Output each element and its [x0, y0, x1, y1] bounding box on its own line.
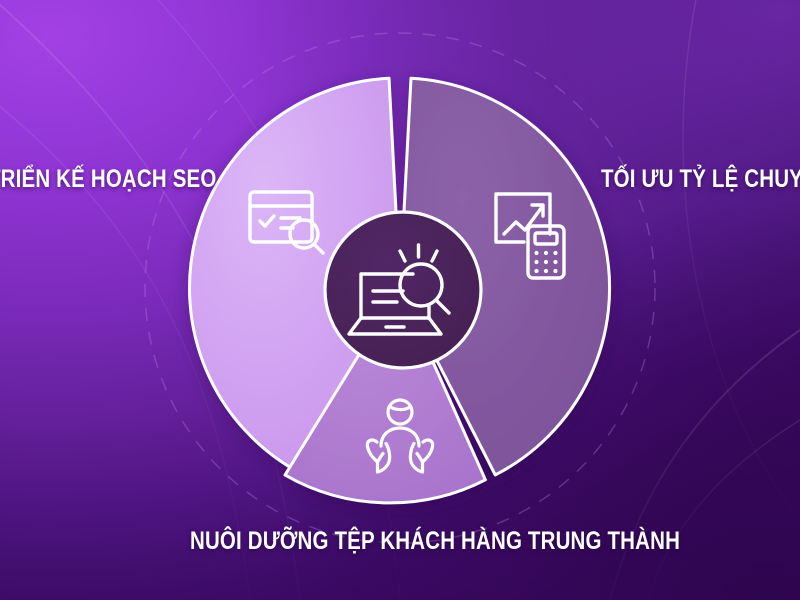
label-seo-plan: TRIỂN KẾ HOẠCH SEO: [0, 167, 216, 192]
label-loyal-customers: NUÔI DƯỠNG TỆP KHÁCH HÀNG TRUNG THÀNH: [190, 529, 680, 554]
infographic-canvas: TRIỂN KẾ HOẠCH SEO TỐI ƯU TỶ LỆ CHUYỂN N…: [0, 0, 800, 600]
label-conversion-rate: TỐI ƯU TỶ LỆ CHUYỂN: [601, 167, 800, 192]
three-segment-pie-diagram: [0, 0, 800, 600]
